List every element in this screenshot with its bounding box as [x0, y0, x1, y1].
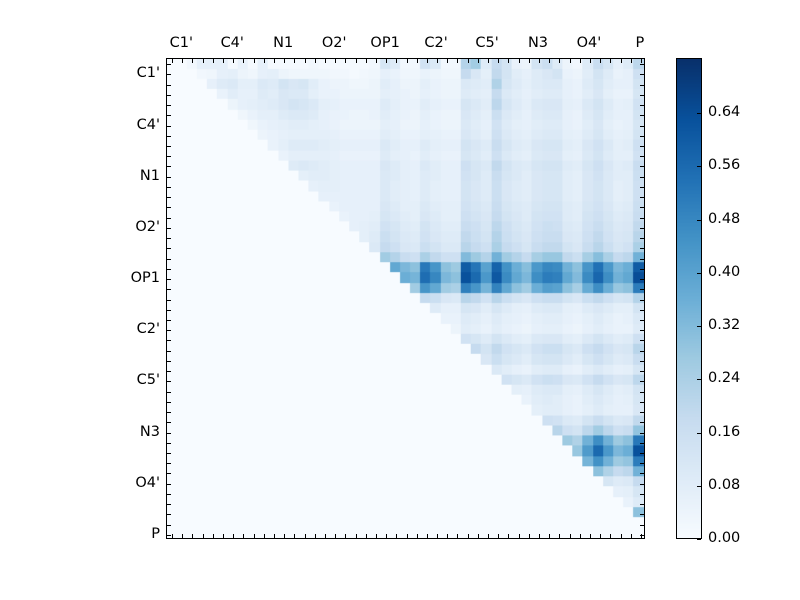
x-tick-mark [519, 59, 520, 63]
y-tick-label-9: P [100, 527, 160, 542]
y-tick-mark [640, 177, 644, 178]
y-tick-mark [167, 146, 171, 147]
y-tick-mark [167, 361, 171, 362]
y-tick-mark [640, 105, 644, 106]
y-tick-mark [167, 494, 171, 495]
y-tick-mark [167, 279, 171, 280]
x-tick-mark [335, 59, 336, 63]
x-tick-label-0: C1' [170, 36, 193, 51]
y-tick-mark [640, 228, 644, 229]
y-tick-mark [640, 535, 644, 536]
x-tick-mark [427, 59, 428, 63]
colorbar-tick-mark [697, 220, 701, 221]
x-tick-mark [457, 534, 458, 538]
x-tick-mark [243, 534, 244, 538]
y-tick-label-7: N3 [100, 424, 160, 439]
y-tick-mark [640, 207, 644, 208]
x-tick-mark [457, 59, 458, 63]
y-tick-mark [167, 248, 171, 249]
y-tick-mark [167, 95, 171, 96]
y-tick-label-3: O2' [100, 220, 160, 235]
y-tick-mark [167, 525, 171, 526]
colorbar-label-6: 0.48 [708, 211, 740, 226]
y-tick-mark [167, 228, 171, 229]
y-tick-mark [167, 269, 171, 270]
y-tick-mark [167, 105, 171, 106]
x-tick-mark [570, 59, 571, 63]
y-tick-mark [167, 443, 171, 444]
x-tick-mark [254, 534, 255, 538]
y-tick-mark [640, 259, 644, 260]
y-tick-mark [640, 473, 644, 474]
y-tick-mark [640, 187, 644, 188]
x-tick-mark [366, 534, 367, 538]
y-tick-mark [640, 166, 644, 167]
x-tick-mark [478, 59, 479, 63]
colorbar-tick-mark [697, 539, 701, 540]
x-tick-mark [192, 59, 193, 63]
colorbar-label-3: 0.24 [708, 371, 740, 386]
y-tick-mark [640, 136, 644, 137]
x-tick-mark [386, 534, 387, 538]
colorbar-label-7: 0.56 [708, 158, 740, 173]
colorbar-label-2: 0.16 [708, 424, 740, 439]
colorbar-label-4: 0.32 [708, 318, 740, 333]
x-tick-mark [447, 59, 448, 63]
y-tick-mark [167, 412, 171, 413]
colorbar-tick-mark [697, 433, 701, 434]
x-tick-mark [294, 59, 295, 63]
x-tick-label-5: C2' [424, 36, 447, 51]
colorbar-tick-mark [697, 113, 701, 114]
y-tick-mark [640, 310, 644, 311]
y-tick-label-5: C2' [100, 322, 160, 337]
x-tick-mark [274, 534, 275, 538]
y-tick-mark [167, 392, 171, 393]
x-tick-label-9: P [636, 36, 645, 51]
x-tick-mark [498, 534, 499, 538]
y-tick-mark [167, 259, 171, 260]
x-tick-mark [519, 534, 520, 538]
x-tick-mark [325, 59, 326, 63]
y-tick-mark [167, 126, 171, 127]
colorbar[interactable] [676, 58, 702, 539]
y-tick-mark [167, 289, 171, 290]
x-tick-mark [396, 59, 397, 63]
y-tick-label-2: N1 [100, 168, 160, 183]
y-tick-mark [167, 115, 171, 116]
x-tick-mark [570, 534, 571, 538]
y-tick-mark [167, 166, 171, 167]
x-tick-mark [559, 534, 560, 538]
x-tick-mark [631, 534, 632, 538]
y-tick-mark [640, 248, 644, 249]
x-tick-mark [284, 534, 285, 538]
x-tick-label-3: O2' [322, 36, 347, 51]
x-tick-label-7: N3 [528, 36, 548, 51]
y-tick-mark [640, 126, 644, 127]
x-tick-mark [203, 59, 204, 63]
y-tick-mark [167, 453, 171, 454]
y-tick-mark [640, 463, 644, 464]
y-tick-mark [640, 156, 644, 157]
x-tick-mark [417, 534, 418, 538]
x-tick-mark [539, 59, 540, 63]
x-tick-mark [590, 59, 591, 63]
x-tick-mark [213, 534, 214, 538]
y-tick-mark [167, 85, 171, 86]
y-tick-mark [640, 525, 644, 526]
y-tick-mark [640, 381, 644, 382]
y-tick-mark [640, 494, 644, 495]
x-tick-mark [182, 534, 183, 538]
x-tick-mark [610, 534, 611, 538]
x-tick-mark [488, 534, 489, 538]
x-tick-mark [223, 534, 224, 538]
y-tick-mark [167, 433, 171, 434]
x-tick-label-2: N1 [273, 36, 293, 51]
y-tick-mark [167, 300, 171, 301]
y-tick-mark [640, 453, 644, 454]
x-tick-mark [417, 59, 418, 63]
x-tick-mark [407, 534, 408, 538]
x-tick-mark [376, 59, 377, 63]
y-tick-label-8: O4' [100, 475, 160, 490]
x-tick-mark [203, 534, 204, 538]
y-tick-mark [167, 156, 171, 157]
x-tick-mark [213, 59, 214, 63]
y-tick-mark [167, 514, 171, 515]
x-tick-mark [233, 59, 234, 63]
y-tick-mark [640, 422, 644, 423]
x-tick-mark [539, 534, 540, 538]
x-tick-mark [600, 59, 601, 63]
y-tick-mark [167, 238, 171, 239]
x-tick-mark [590, 534, 591, 538]
x-tick-mark [325, 534, 326, 538]
y-tick-mark [167, 197, 171, 198]
x-tick-mark [254, 59, 255, 63]
colorbar-tick-mark [697, 273, 701, 274]
heatmap-image [167, 59, 644, 538]
y-tick-mark [640, 340, 644, 341]
y-tick-mark [640, 443, 644, 444]
x-tick-mark [305, 534, 306, 538]
colorbar-tick-mark [697, 326, 701, 327]
colorbar-label-1: 0.08 [708, 478, 740, 493]
x-tick-mark [376, 534, 377, 538]
x-tick-label-8: O4' [577, 36, 602, 51]
y-tick-mark [167, 74, 171, 75]
x-tick-mark [315, 534, 316, 538]
y-tick-mark [640, 361, 644, 362]
x-tick-mark [345, 59, 346, 63]
y-tick-mark [640, 289, 644, 290]
y-tick-mark [640, 392, 644, 393]
x-tick-mark [172, 534, 173, 538]
x-tick-mark [508, 59, 509, 63]
x-tick-mark [468, 534, 469, 538]
x-tick-mark [641, 59, 642, 63]
colorbar-tick-mark [697, 166, 701, 167]
y-tick-mark [640, 74, 644, 75]
x-tick-mark [621, 534, 622, 538]
y-tick-mark [167, 381, 171, 382]
x-tick-mark [559, 59, 560, 63]
x-tick-mark [386, 59, 387, 63]
x-tick-mark [447, 534, 448, 538]
colorbar-gradient [677, 59, 701, 538]
figure-canvas: C1'C4'N1O2'OP1C2'C5'N3O4'P C1'C4'N1O2'OP… [0, 0, 800, 600]
y-tick-mark [640, 514, 644, 515]
x-tick-mark [264, 59, 265, 63]
x-tick-mark [335, 534, 336, 538]
y-tick-mark [167, 177, 171, 178]
y-tick-mark [167, 218, 171, 219]
y-tick-mark [167, 136, 171, 137]
x-tick-mark [580, 59, 581, 63]
y-tick-mark [640, 320, 644, 321]
y-tick-mark [167, 371, 171, 372]
y-tick-mark [167, 310, 171, 311]
x-tick-label-1: C4' [221, 36, 244, 51]
y-tick-mark [640, 402, 644, 403]
y-tick-mark [640, 412, 644, 413]
y-tick-mark [167, 64, 171, 65]
y-tick-mark [167, 463, 171, 464]
y-tick-mark [640, 146, 644, 147]
y-tick-mark [640, 197, 644, 198]
y-tick-mark [167, 320, 171, 321]
x-tick-mark [305, 59, 306, 63]
x-tick-mark [356, 59, 357, 63]
y-tick-mark [640, 269, 644, 270]
colorbar-tick-mark [697, 379, 701, 380]
y-tick-label-6: C5' [100, 373, 160, 388]
x-tick-mark [549, 534, 550, 538]
colorbar-tick-mark [697, 486, 701, 487]
x-tick-mark [529, 534, 530, 538]
x-tick-mark [478, 534, 479, 538]
x-tick-mark [468, 59, 469, 63]
x-tick-mark [621, 59, 622, 63]
y-tick-mark [167, 340, 171, 341]
x-tick-mark [345, 534, 346, 538]
x-tick-mark [356, 534, 357, 538]
y-tick-mark [167, 330, 171, 331]
x-tick-mark [172, 59, 173, 63]
x-tick-mark [315, 59, 316, 63]
x-tick-mark [284, 59, 285, 63]
colorbar-label-5: 0.40 [708, 265, 740, 280]
x-tick-mark [366, 59, 367, 63]
y-tick-mark [640, 85, 644, 86]
y-tick-mark [167, 422, 171, 423]
x-tick-mark [508, 534, 509, 538]
y-tick-mark [167, 535, 171, 536]
y-tick-mark [640, 351, 644, 352]
x-tick-mark [437, 59, 438, 63]
x-tick-mark [274, 59, 275, 63]
x-tick-mark [294, 534, 295, 538]
x-tick-mark [182, 59, 183, 63]
y-tick-mark [640, 371, 644, 372]
x-tick-label-6: C5' [475, 36, 498, 51]
colorbar-label-8: 0.64 [708, 105, 740, 120]
x-tick-mark [600, 534, 601, 538]
x-tick-mark [243, 59, 244, 63]
y-tick-mark [167, 473, 171, 474]
y-tick-mark [167, 351, 171, 352]
colorbar-label-0: 0.00 [708, 531, 740, 546]
x-tick-mark [192, 534, 193, 538]
x-tick-label-4: OP1 [370, 36, 399, 51]
x-tick-mark [529, 59, 530, 63]
heatmap-axes[interactable] [166, 58, 645, 539]
x-tick-mark [427, 534, 428, 538]
x-tick-mark [407, 59, 408, 63]
x-tick-mark [610, 59, 611, 63]
y-tick-mark [640, 64, 644, 65]
y-tick-mark [640, 95, 644, 96]
x-tick-mark [396, 534, 397, 538]
y-tick-mark [640, 279, 644, 280]
y-tick-mark [167, 187, 171, 188]
y-tick-mark [640, 218, 644, 219]
y-tick-mark [167, 484, 171, 485]
x-tick-mark [437, 534, 438, 538]
y-tick-mark [167, 207, 171, 208]
y-tick-mark [640, 504, 644, 505]
y-tick-mark [640, 238, 644, 239]
y-tick-mark [640, 433, 644, 434]
x-tick-mark [223, 59, 224, 63]
x-tick-mark [233, 534, 234, 538]
y-tick-mark [167, 504, 171, 505]
x-tick-mark [580, 534, 581, 538]
x-tick-mark [549, 59, 550, 63]
y-tick-mark [640, 115, 644, 116]
x-tick-mark [264, 534, 265, 538]
y-tick-label-0: C1' [100, 66, 160, 81]
y-tick-mark [640, 484, 644, 485]
y-tick-mark [640, 330, 644, 331]
y-tick-mark [167, 402, 171, 403]
y-tick-label-1: C4' [100, 117, 160, 132]
x-tick-mark [498, 59, 499, 63]
x-tick-mark [631, 59, 632, 63]
y-tick-mark [640, 300, 644, 301]
y-tick-label-4: OP1 [100, 271, 160, 286]
x-tick-mark [488, 59, 489, 63]
